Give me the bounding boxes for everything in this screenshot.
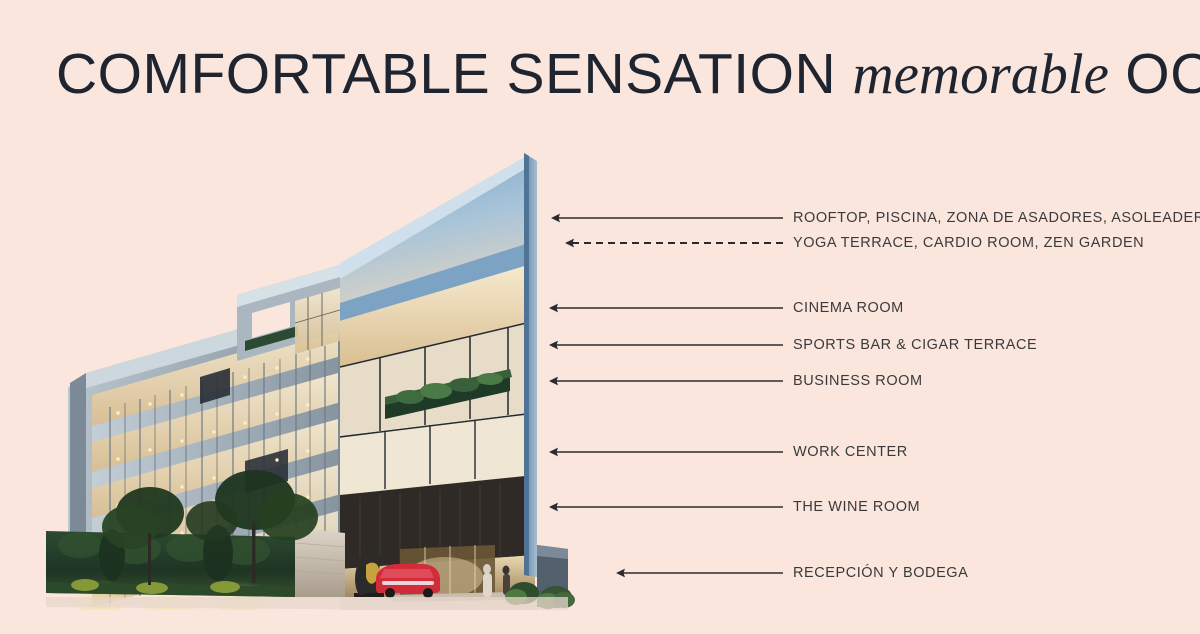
callout-arrow-6 (537, 444, 791, 460)
callout-arrow-3 (537, 300, 791, 316)
callout-arrow-5 (537, 373, 791, 389)
callout-label-4: SPORTS BAR & CIGAR TERRACE (793, 336, 1037, 354)
page-title: COMFORTABLE SENSATION memorable OCASSION (56, 38, 1156, 110)
building-render-svg (40, 145, 580, 610)
callout-label-1: ROOFTOP, PISCINA, ZONA DE ASADORES, ASOL… (793, 209, 1200, 227)
title-trail: OCASSION (1109, 42, 1200, 106)
title-lead: COMFORTABLE SENSATION (56, 42, 852, 106)
callout-arrow-2 (553, 235, 791, 251)
callout-label-7: THE WINE ROOM (793, 498, 920, 516)
slide-canvas: COMFORTABLE SENSATION memorable OCASSION (0, 0, 1200, 634)
vertical-fin (524, 153, 537, 577)
callout-label-2: YOGA TERRACE, CARDIO ROOM, ZEN GARDEN (793, 234, 1144, 252)
title-emphasis: memorable (852, 43, 1108, 106)
callout-arrow-4 (537, 337, 791, 353)
callout-label-3: CINEMA ROOM (793, 299, 904, 317)
callout-arrow-1 (539, 210, 791, 226)
right-tower-block (340, 155, 535, 607)
callout-label-6: WORK CENTER (793, 443, 908, 461)
callout-label-8: RECEPCIÓN Y BODEGA (793, 564, 968, 582)
callout-label-5: BUSINESS ROOM (793, 372, 923, 390)
callout-arrow-7 (537, 499, 791, 515)
building-render (40, 145, 580, 610)
red-car (376, 564, 440, 598)
callout-arrow-8 (604, 565, 791, 581)
